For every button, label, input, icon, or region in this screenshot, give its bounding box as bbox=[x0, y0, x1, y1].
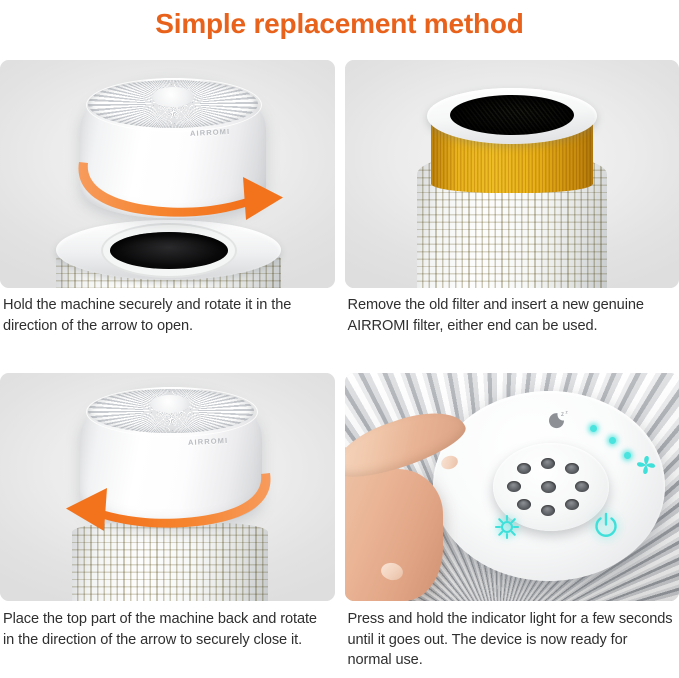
rotate-arrow-icon bbox=[0, 373, 335, 601]
hub-hole bbox=[517, 463, 531, 474]
steps-grid: AIRROMI Hold the machine securely bbox=[0, 60, 679, 678]
step-3-caption: Place the top part of the machine back a… bbox=[0, 601, 335, 678]
power-icon[interactable] bbox=[591, 511, 621, 541]
fan-speed-icon[interactable] bbox=[633, 453, 659, 479]
page-title: Simple replacement method bbox=[0, 0, 679, 42]
hub-hole bbox=[541, 481, 556, 493]
hub-hole bbox=[517, 499, 531, 510]
brightness-icon[interactable] bbox=[493, 513, 521, 541]
step-4-photo: z z bbox=[345, 373, 679, 601]
rotate-arrow-icon bbox=[0, 60, 335, 288]
step-card-1: AIRROMI Hold the machine securely bbox=[0, 60, 340, 365]
steps-row-1: AIRROMI Hold the machine securely bbox=[0, 60, 679, 365]
hub-hole bbox=[575, 481, 589, 492]
svg-text:z: z bbox=[561, 412, 564, 418]
steps-row-2: AIRROMI Place the top part of the bbox=[0, 373, 679, 678]
step-3-photo: AIRROMI bbox=[0, 373, 335, 601]
hub-hole bbox=[565, 499, 579, 510]
step-1-photo: AIRROMI bbox=[0, 60, 335, 288]
filter-carbon-core bbox=[450, 95, 574, 135]
step-card-2: Remove the old filter and insert a new g… bbox=[340, 60, 679, 365]
hub-hole bbox=[565, 463, 579, 474]
speed-led-1 bbox=[590, 425, 597, 432]
hand bbox=[345, 469, 443, 601]
hub-hole bbox=[541, 505, 555, 516]
hub-hole bbox=[507, 481, 521, 492]
sleep-moon-icon[interactable]: z z bbox=[547, 409, 573, 431]
step-card-4: z z bbox=[340, 373, 679, 678]
step-1-caption: Hold the machine securely and rotate it … bbox=[0, 288, 335, 365]
step-4-caption: Press and hold the indicator light for a… bbox=[345, 601, 679, 678]
step-2-caption: Remove the old filter and insert a new g… bbox=[345, 288, 679, 365]
step-card-3: AIRROMI Place the top part of the bbox=[0, 373, 340, 678]
hub-hole bbox=[541, 458, 555, 469]
speed-led-2 bbox=[609, 437, 616, 444]
step-2-photo bbox=[345, 60, 679, 288]
speed-led-3 bbox=[624, 452, 631, 459]
svg-text:z: z bbox=[565, 410, 568, 415]
